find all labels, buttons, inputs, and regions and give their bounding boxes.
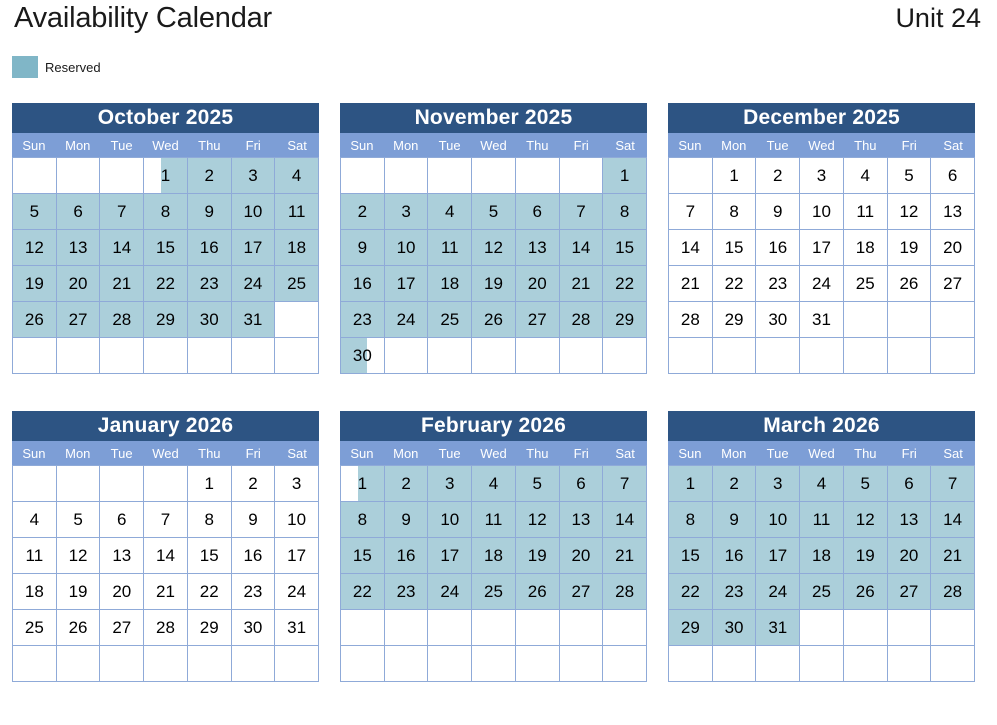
day-cell[interactable]: 20 xyxy=(931,230,975,266)
day-cell[interactable]: 8 xyxy=(603,194,647,230)
day-cell[interactable]: 16 xyxy=(341,266,385,302)
day-cell[interactable]: 25 xyxy=(844,266,888,302)
day-number: 24 xyxy=(768,583,787,600)
day-cell[interactable]: 7 xyxy=(144,502,188,538)
day-cell[interactable]: 17 xyxy=(385,266,429,302)
day-number: 7 xyxy=(620,475,629,492)
day-cell[interactable]: 10 xyxy=(385,230,429,266)
day-cell-empty xyxy=(232,338,276,374)
day-cell[interactable]: 10 xyxy=(428,502,472,538)
day-cell-empty xyxy=(275,302,319,338)
day-cell[interactable]: 4 xyxy=(428,194,472,230)
day-cell-empty xyxy=(603,610,647,646)
day-number: 28 xyxy=(112,311,131,328)
day-cell-empty xyxy=(844,610,888,646)
day-cell[interactable]: 16 xyxy=(188,230,232,266)
day-number: 8 xyxy=(686,511,695,528)
day-cell[interactable]: 6 xyxy=(888,466,932,502)
day-cell[interactable]: 13 xyxy=(100,538,144,574)
day-cell[interactable]: 4 xyxy=(13,502,57,538)
day-number: 5 xyxy=(30,203,39,220)
day-cell[interactable]: 2 xyxy=(341,194,385,230)
day-number: 20 xyxy=(69,275,88,292)
day-cell[interactable]: 26 xyxy=(472,302,516,338)
day-cell[interactable]: 15 xyxy=(341,538,385,574)
day-number: 5 xyxy=(73,511,82,528)
day-cell-empty xyxy=(100,646,144,682)
day-cell[interactable]: 7 xyxy=(603,466,647,502)
day-cell[interactable]: 28 xyxy=(669,302,713,338)
day-cell[interactable]: 21 xyxy=(100,266,144,302)
day-cell[interactable]: 20 xyxy=(57,266,101,302)
day-cell[interactable]: 23 xyxy=(232,574,276,610)
day-cell[interactable]: 8 xyxy=(188,502,232,538)
day-cell[interactable]: 17 xyxy=(232,230,276,266)
day-cell[interactable]: 12 xyxy=(888,194,932,230)
day-number: 17 xyxy=(812,239,831,256)
day-grid: 1234567891011121314151617181920212223242… xyxy=(340,465,647,682)
day-cell[interactable]: 5 xyxy=(57,502,101,538)
day-number: 19 xyxy=(528,547,547,564)
day-cell[interactable]: 3 xyxy=(275,466,319,502)
day-cell[interactable]: 15 xyxy=(144,230,188,266)
day-cell[interactable]: 29 xyxy=(669,610,713,646)
day-cell[interactable]: 23 xyxy=(713,574,757,610)
day-cell-empty xyxy=(472,610,516,646)
day-cell[interactable]: 28 xyxy=(100,302,144,338)
day-cell[interactable]: 25 xyxy=(472,574,516,610)
day-cell[interactable]: 8 xyxy=(341,502,385,538)
day-cell[interactable]: 26 xyxy=(13,302,57,338)
day-number: 11 xyxy=(856,203,874,220)
day-cell[interactable]: 19 xyxy=(516,538,560,574)
day-cell[interactable]: 21 xyxy=(560,266,604,302)
day-number: 14 xyxy=(943,511,962,528)
day-cell[interactable]: 21 xyxy=(931,538,975,574)
day-number: 1 xyxy=(204,475,213,492)
day-number: 26 xyxy=(69,619,88,636)
weekday-header-row: SunMonTueWedThuFriSat xyxy=(668,133,975,157)
day-cell-empty xyxy=(341,158,385,194)
day-cell[interactable]: 20 xyxy=(888,538,932,574)
day-cell[interactable]: 22 xyxy=(713,266,757,302)
day-cell-empty xyxy=(669,158,713,194)
day-cell[interactable]: 21 xyxy=(669,266,713,302)
day-cell[interactable]: 16 xyxy=(232,538,276,574)
day-cell[interactable]: 30 xyxy=(188,302,232,338)
day-cell[interactable]: 5 xyxy=(844,466,888,502)
day-cell[interactable]: 12 xyxy=(516,502,560,538)
day-cell[interactable]: 26 xyxy=(57,610,101,646)
day-cell[interactable]: 28 xyxy=(603,574,647,610)
day-number: 5 xyxy=(860,475,869,492)
day-number: 2 xyxy=(248,475,257,492)
day-number: 16 xyxy=(397,547,416,564)
day-cell[interactable]: 16 xyxy=(385,538,429,574)
day-cell[interactable]: 13 xyxy=(560,502,604,538)
day-number: 25 xyxy=(856,275,875,292)
day-cell[interactable]: 14 xyxy=(603,502,647,538)
day-cell[interactable]: 2 xyxy=(232,466,276,502)
day-number: 27 xyxy=(943,275,962,292)
day-cell[interactable]: 1 xyxy=(713,158,757,194)
day-cell[interactable]: 29 xyxy=(603,302,647,338)
day-cell[interactable]: 27 xyxy=(560,574,604,610)
day-number: 16 xyxy=(725,547,744,564)
day-number: 28 xyxy=(681,311,700,328)
day-cell[interactable]: 18 xyxy=(472,538,516,574)
day-cell[interactable]: 13 xyxy=(888,502,932,538)
day-cell-empty xyxy=(603,646,647,682)
day-grid: 1234567891011121314151617181920212223242… xyxy=(12,465,319,682)
day-number: 23 xyxy=(353,311,372,328)
day-number: 31 xyxy=(243,311,262,328)
day-cell[interactable]: 10 xyxy=(756,502,800,538)
day-cell[interactable]: 25 xyxy=(428,302,472,338)
day-cell[interactable]: 19 xyxy=(844,538,888,574)
day-number: 13 xyxy=(571,511,590,528)
day-cell[interactable]: 6 xyxy=(100,502,144,538)
day-cell[interactable]: 1 xyxy=(669,466,713,502)
day-cell[interactable]: 12 xyxy=(844,502,888,538)
day-number: 11 xyxy=(26,547,44,564)
day-cell[interactable]: 30 xyxy=(756,302,800,338)
day-number: 20 xyxy=(571,547,590,564)
day-number: 30 xyxy=(768,311,787,328)
day-number: 31 xyxy=(768,619,787,636)
day-number: 18 xyxy=(812,547,831,564)
day-cell[interactable]: 25 xyxy=(275,266,319,302)
day-number: 23 xyxy=(397,583,416,600)
day-cell[interactable]: 17 xyxy=(275,538,319,574)
day-cell[interactable]: 8 xyxy=(713,194,757,230)
day-cell[interactable]: 27 xyxy=(100,610,144,646)
day-cell[interactable]: 26 xyxy=(844,574,888,610)
day-cell[interactable]: 8 xyxy=(669,502,713,538)
day-number: 10 xyxy=(768,511,787,528)
day-cell[interactable]: 22 xyxy=(144,266,188,302)
day-cell[interactable]: 23 xyxy=(385,574,429,610)
day-cell-empty xyxy=(888,302,932,338)
day-cell[interactable]: 18 xyxy=(800,538,844,574)
day-cell[interactable]: 28 xyxy=(931,574,975,610)
day-cell[interactable]: 11 xyxy=(428,230,472,266)
day-cell[interactable]: 29 xyxy=(188,610,232,646)
day-cell[interactable]: 6 xyxy=(560,466,604,502)
day-cell[interactable]: 17 xyxy=(756,538,800,574)
day-cell-empty xyxy=(560,610,604,646)
day-cell[interactable]: 15 xyxy=(603,230,647,266)
day-number: 21 xyxy=(156,583,175,600)
day-number: 11 xyxy=(813,511,831,528)
day-cell[interactable]: 30 xyxy=(232,610,276,646)
day-number: 22 xyxy=(200,583,219,600)
day-number: 10 xyxy=(243,203,262,220)
day-cell[interactable]: 15 xyxy=(669,538,713,574)
day-cell-empty xyxy=(516,338,560,374)
weekday-label-tue: Tue xyxy=(428,441,472,465)
day-cell[interactable]: 31 xyxy=(232,302,276,338)
day-cell-empty xyxy=(13,338,57,374)
day-cell[interactable]: 6 xyxy=(57,194,101,230)
day-cell-empty xyxy=(385,338,429,374)
day-cell[interactable]: 19 xyxy=(472,266,516,302)
day-cell[interactable]: 21 xyxy=(603,538,647,574)
day-number: 22 xyxy=(156,275,175,292)
day-cell[interactable]: 4 xyxy=(844,158,888,194)
day-cell[interactable]: 31 xyxy=(756,610,800,646)
day-cell[interactable]: 9 xyxy=(232,502,276,538)
day-number: 23 xyxy=(243,583,262,600)
day-cell[interactable]: 27 xyxy=(516,302,560,338)
day-cell[interactable]: 18 xyxy=(13,574,57,610)
day-cell[interactable]: 25 xyxy=(13,610,57,646)
day-cell-empty xyxy=(275,338,319,374)
weekday-label-sat: Sat xyxy=(931,441,975,465)
month-calendar: March 2026SunMonTueWedThuFriSat123456789… xyxy=(668,411,975,682)
day-number: 4 xyxy=(489,475,498,492)
day-number: 18 xyxy=(484,547,503,564)
day-cell[interactable]: 27 xyxy=(57,302,101,338)
weekday-label-thu: Thu xyxy=(843,441,887,465)
day-cell[interactable]: 23 xyxy=(341,302,385,338)
day-cell[interactable]: 7 xyxy=(669,194,713,230)
day-number: 9 xyxy=(401,511,410,528)
day-number: 8 xyxy=(161,203,170,220)
day-cell[interactable]: 6 xyxy=(931,158,975,194)
day-cell[interactable]: 4 xyxy=(800,466,844,502)
day-cell[interactable]: 3 xyxy=(385,194,429,230)
day-cell[interactable]: 11 xyxy=(275,194,319,230)
day-cell[interactable]: 4 xyxy=(275,158,319,194)
day-cell[interactable]: 25 xyxy=(800,574,844,610)
day-cell[interactable]: 9 xyxy=(188,194,232,230)
day-cell[interactable]: 7 xyxy=(100,194,144,230)
day-cell[interactable]: 23 xyxy=(756,266,800,302)
day-cell[interactable]: 27 xyxy=(931,266,975,302)
day-cell[interactable]: 3 xyxy=(800,158,844,194)
day-cell[interactable]: 16 xyxy=(713,538,757,574)
day-cell[interactable]: 22 xyxy=(603,266,647,302)
day-cell-empty xyxy=(560,158,604,194)
day-cell[interactable]: 26 xyxy=(516,574,560,610)
day-cell[interactable]: 10 xyxy=(232,194,276,230)
day-cell[interactable]: 20 xyxy=(516,266,560,302)
day-cell[interactable]: 1 xyxy=(188,466,232,502)
day-cell[interactable]: 20 xyxy=(100,574,144,610)
day-cell[interactable]: 7 xyxy=(560,194,604,230)
day-cell[interactable]: 28 xyxy=(560,302,604,338)
day-cell[interactable]: 24 xyxy=(756,574,800,610)
day-number: 17 xyxy=(287,547,306,564)
day-cell[interactable]: 13 xyxy=(516,230,560,266)
month-calendar: November 2025SunMonTueWedThuFriSat123456… xyxy=(340,103,647,374)
day-cell[interactable]: 2 xyxy=(188,158,232,194)
month-title: October 2025 xyxy=(12,103,319,133)
day-cell[interactable]: 31 xyxy=(275,610,319,646)
weekday-label-mon: Mon xyxy=(384,441,428,465)
day-cell[interactable]: 9 xyxy=(341,230,385,266)
day-cell-empty xyxy=(232,646,276,682)
day-cell[interactable]: 24 xyxy=(428,574,472,610)
day-cell[interactable]: 29 xyxy=(713,302,757,338)
day-number: 29 xyxy=(615,311,634,328)
day-cell[interactable]: 14 xyxy=(931,502,975,538)
day-cell[interactable]: 30 xyxy=(341,338,385,374)
day-cell[interactable]: 16 xyxy=(756,230,800,266)
day-cell[interactable]: 22 xyxy=(669,574,713,610)
day-number: 30 xyxy=(725,619,744,636)
day-cell[interactable]: 11 xyxy=(13,538,57,574)
day-number: 26 xyxy=(899,275,918,292)
day-cell[interactable]: 18 xyxy=(844,230,888,266)
day-cell[interactable]: 14 xyxy=(100,230,144,266)
weekday-label-fri: Fri xyxy=(887,441,931,465)
day-cell-empty xyxy=(13,466,57,502)
day-cell[interactable]: 14 xyxy=(144,538,188,574)
day-number: 10 xyxy=(812,203,831,220)
day-cell[interactable]: 24 xyxy=(385,302,429,338)
weekday-label-wed: Wed xyxy=(472,133,516,157)
day-cell[interactable]: 29 xyxy=(144,302,188,338)
day-cell[interactable]: 19 xyxy=(13,266,57,302)
day-cell[interactable]: 22 xyxy=(188,574,232,610)
day-cell[interactable]: 10 xyxy=(275,502,319,538)
day-cell[interactable]: 15 xyxy=(188,538,232,574)
day-cell[interactable]: 5 xyxy=(516,466,560,502)
day-cell[interactable]: 26 xyxy=(888,266,932,302)
day-cell[interactable]: 11 xyxy=(472,502,516,538)
day-cell[interactable]: 6 xyxy=(516,194,560,230)
day-cell-empty xyxy=(516,610,560,646)
day-cell-empty xyxy=(516,646,560,682)
day-cell[interactable]: 2 xyxy=(756,158,800,194)
day-cell[interactable]: 7 xyxy=(931,466,975,502)
day-cell-empty xyxy=(888,646,932,682)
day-number: 4 xyxy=(30,511,39,528)
day-cell[interactable]: 28 xyxy=(144,610,188,646)
day-cell[interactable]: 13 xyxy=(57,230,101,266)
day-cell[interactable]: 2 xyxy=(713,466,757,502)
day-cell[interactable]: 5 xyxy=(13,194,57,230)
day-cell[interactable]: 3 xyxy=(232,158,276,194)
day-cell[interactable]: 17 xyxy=(800,230,844,266)
day-cell[interactable]: 12 xyxy=(472,230,516,266)
unit-label: Unit 24 xyxy=(895,3,981,34)
day-cell[interactable]: 9 xyxy=(385,502,429,538)
day-cell[interactable]: 22 xyxy=(341,574,385,610)
day-cell[interactable]: 30 xyxy=(713,610,757,646)
day-cell[interactable]: 24 xyxy=(800,266,844,302)
day-number: 21 xyxy=(615,547,634,564)
day-number: 17 xyxy=(440,547,459,564)
month-calendar: February 2026SunMonTueWedThuFriSat123456… xyxy=(340,411,647,682)
day-number: 27 xyxy=(528,311,547,328)
day-number: 19 xyxy=(25,275,44,292)
day-number: 15 xyxy=(156,239,175,256)
day-cell-empty xyxy=(844,338,888,374)
day-cell-empty xyxy=(472,646,516,682)
day-cell[interactable]: 1 xyxy=(341,466,385,502)
day-number: 3 xyxy=(248,167,257,184)
day-cell[interactable]: 31 xyxy=(800,302,844,338)
day-cell[interactable]: 27 xyxy=(888,574,932,610)
day-cell[interactable]: 3 xyxy=(428,466,472,502)
day-number: 28 xyxy=(571,311,590,328)
day-cell[interactable]: 12 xyxy=(13,230,57,266)
legend-reserved-label: Reserved xyxy=(45,61,101,74)
day-cell[interactable]: 5 xyxy=(888,158,932,194)
day-cell[interactable]: 13 xyxy=(931,194,975,230)
weekday-label-thu: Thu xyxy=(187,133,231,157)
day-number: 14 xyxy=(571,239,590,256)
day-number: 17 xyxy=(243,239,262,256)
weekday-label-sun: Sun xyxy=(340,441,384,465)
day-number: 20 xyxy=(943,239,962,256)
day-cell[interactable]: 17 xyxy=(428,538,472,574)
day-number: 15 xyxy=(200,547,219,564)
day-cell[interactable]: 21 xyxy=(144,574,188,610)
day-cell[interactable]: 1 xyxy=(144,158,188,194)
day-number: 7 xyxy=(686,203,695,220)
day-cell[interactable]: 10 xyxy=(800,194,844,230)
month-title: November 2025 xyxy=(340,103,647,133)
day-cell[interactable]: 3 xyxy=(756,466,800,502)
day-number: 11 xyxy=(485,511,503,528)
day-cell[interactable]: 18 xyxy=(275,230,319,266)
day-number: 19 xyxy=(899,239,918,256)
day-cell[interactable]: 4 xyxy=(472,466,516,502)
day-cell[interactable]: 2 xyxy=(385,466,429,502)
weekday-label-sun: Sun xyxy=(668,133,712,157)
day-number: 14 xyxy=(615,511,634,528)
day-cell[interactable]: 24 xyxy=(275,574,319,610)
day-cell[interactable]: 14 xyxy=(560,230,604,266)
day-cell[interactable]: 5 xyxy=(472,194,516,230)
day-cell[interactable]: 15 xyxy=(713,230,757,266)
day-cell[interactable]: 9 xyxy=(756,194,800,230)
day-number: 22 xyxy=(353,583,372,600)
day-cell-empty xyxy=(931,338,975,374)
day-cell-empty xyxy=(844,302,888,338)
day-cell[interactable]: 12 xyxy=(57,538,101,574)
day-cell[interactable]: 19 xyxy=(57,574,101,610)
day-cell[interactable]: 1 xyxy=(603,158,647,194)
day-cell[interactable]: 18 xyxy=(428,266,472,302)
day-cell-empty xyxy=(800,646,844,682)
day-cell[interactable]: 23 xyxy=(188,266,232,302)
day-number: 4 xyxy=(860,167,869,184)
day-cell[interactable]: 9 xyxy=(713,502,757,538)
day-cell-empty xyxy=(428,610,472,646)
day-number: 8 xyxy=(729,203,738,220)
weekday-label-sat: Sat xyxy=(603,133,647,157)
day-grid: 1234567891011121314151617181920212223242… xyxy=(12,157,319,374)
day-cell[interactable]: 8 xyxy=(144,194,188,230)
day-cell[interactable]: 14 xyxy=(669,230,713,266)
day-cell-empty xyxy=(516,158,560,194)
month-title: December 2025 xyxy=(668,103,975,133)
day-cell[interactable]: 19 xyxy=(888,230,932,266)
day-number: 28 xyxy=(943,583,962,600)
day-cell[interactable]: 11 xyxy=(844,194,888,230)
month-calendar: December 2025SunMonTueWedThuFriSat123456… xyxy=(668,103,975,374)
day-cell[interactable]: 20 xyxy=(560,538,604,574)
day-number: 22 xyxy=(725,275,744,292)
day-cell[interactable]: 24 xyxy=(232,266,276,302)
day-number: 10 xyxy=(287,511,306,528)
day-cell[interactable]: 11 xyxy=(800,502,844,538)
